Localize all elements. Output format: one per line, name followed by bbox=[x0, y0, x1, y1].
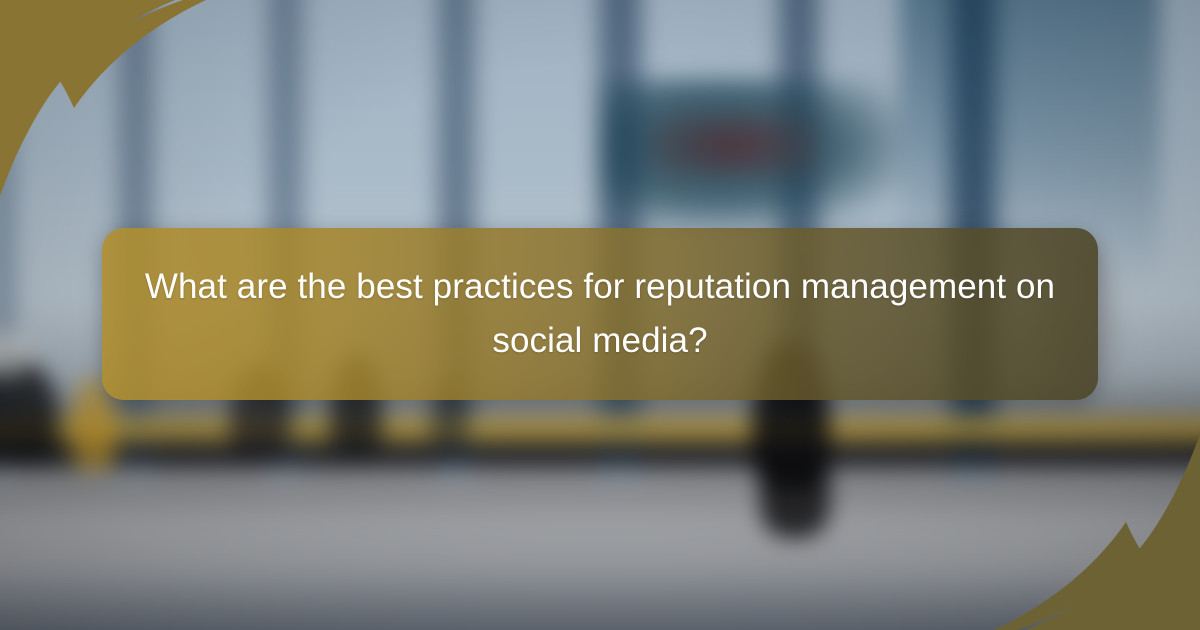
question-card: What are the best practices for reputati… bbox=[102, 228, 1098, 400]
share-card-canvas: What are the best practices for reputati… bbox=[0, 0, 1200, 630]
question-text: What are the best practices for reputati… bbox=[142, 260, 1058, 368]
distant-signage bbox=[650, 110, 820, 180]
amber-handrail bbox=[0, 412, 1200, 446]
person-silhouette bbox=[760, 458, 830, 538]
polished-floor bbox=[0, 468, 1200, 630]
